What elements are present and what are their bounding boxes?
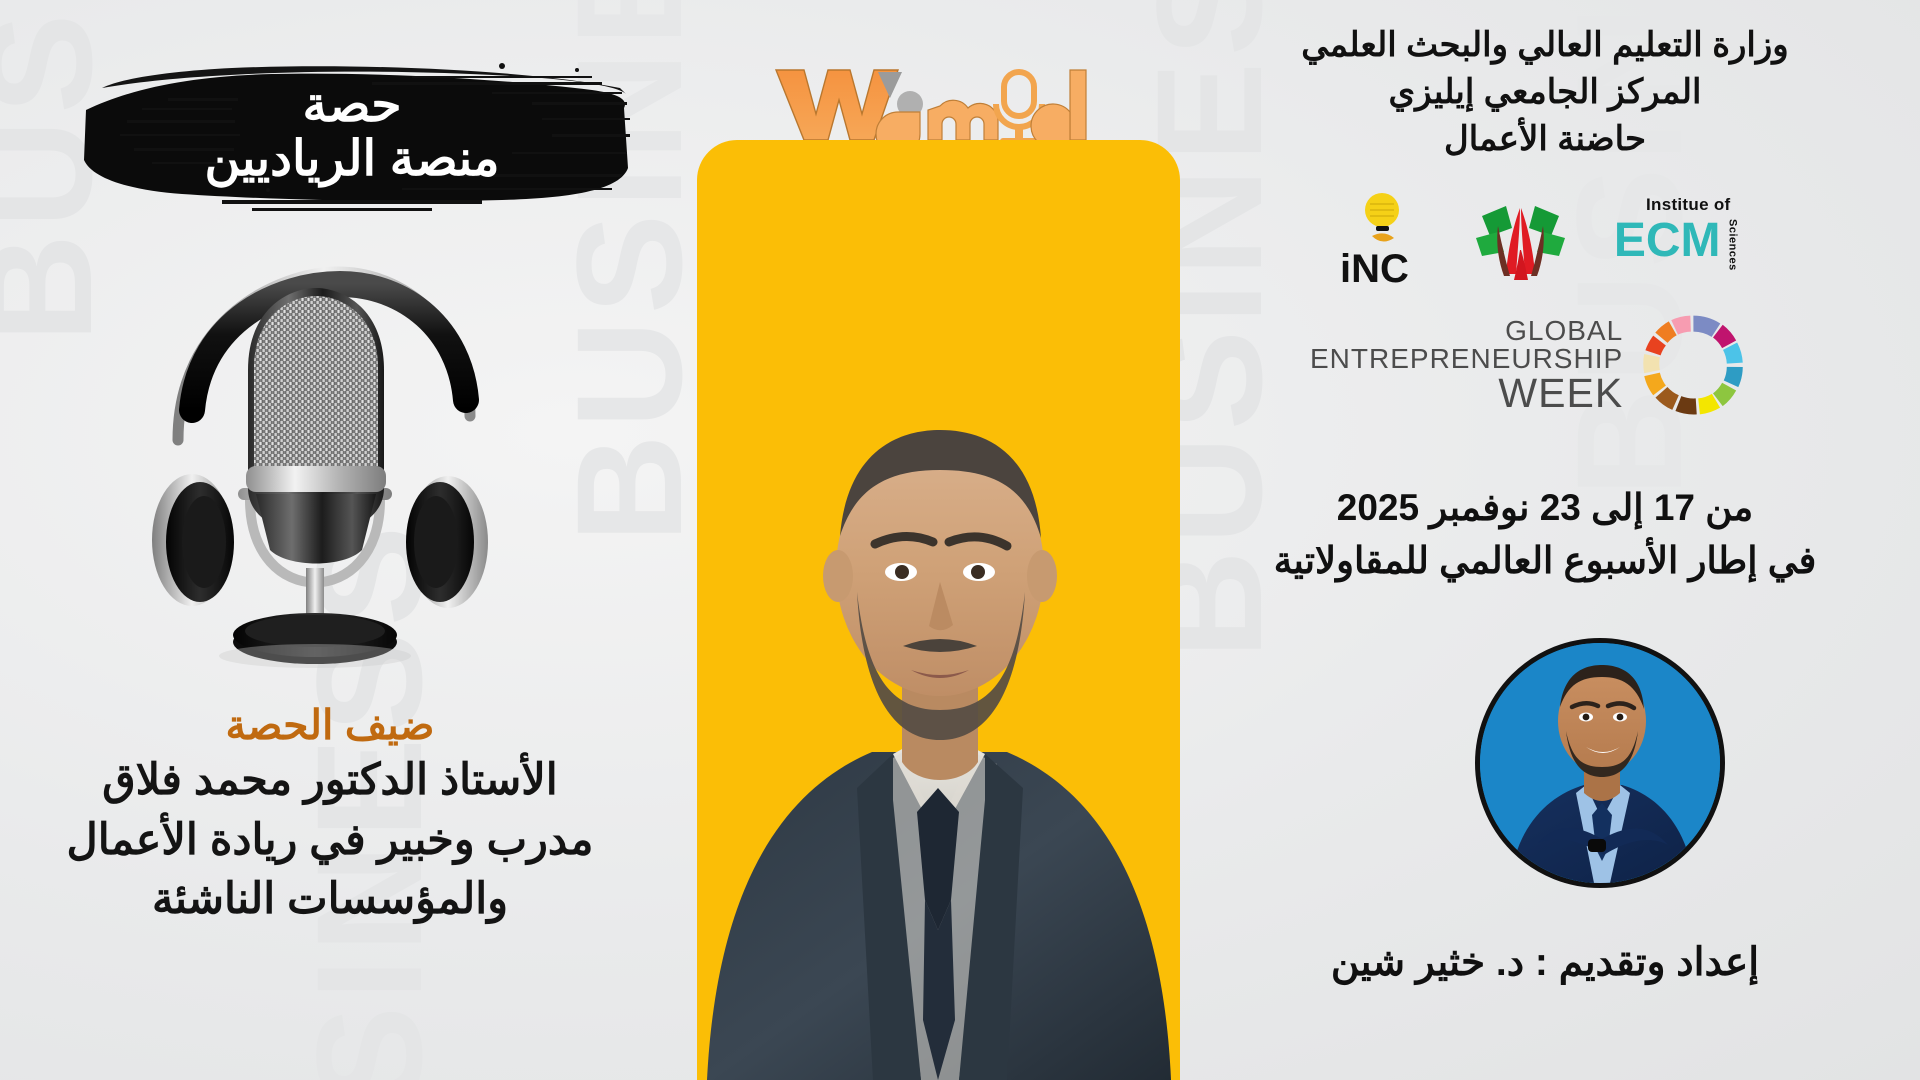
partner-logos: Institue of ECM Sciences: [1310, 185, 1770, 290]
university-emblem-logo: [1468, 190, 1573, 285]
poster-canvas: BUSI BUSINE BUSINES BUSIN SINESS: [0, 0, 1920, 1080]
left-column: حصة منصة الرياديين: [0, 0, 660, 1080]
event-dates-block: من 17 إلى 23 نوفمبر 2025 في إطار الأسبوع…: [1210, 480, 1880, 585]
global-entrepreneurship-week-logo: GLOBAL ENTREPRENEURSHIP WEEK: [1310, 305, 1750, 425]
event-dates: من 17 إلى 23 نوفمبر 2025: [1210, 480, 1880, 536]
inc-logo-text: iNC: [1340, 247, 1409, 285]
guest-photo-card: [697, 140, 1180, 1080]
ministry-line3: حاضنة الأعمال: [1200, 116, 1890, 163]
right-column: وزارة التعليم العالي والبحث العلمي المرك…: [1180, 0, 1920, 1080]
gew-line3: WEEK: [1310, 373, 1623, 414]
gew-line1: GLOBAL: [1310, 317, 1623, 345]
ministry-header: وزارة التعليم العالي والبحث العلمي المرك…: [1200, 22, 1890, 163]
ecm-logo-top-text: Institue of: [1646, 195, 1731, 215]
guest-role-line2: والمؤسسات الناشئة: [0, 870, 660, 929]
guest-name: الأستاذ الدكتور محمد فلاق: [0, 751, 660, 810]
guest-portrait: [697, 140, 1180, 1080]
microphone-headphones-icon: [130, 250, 500, 670]
ecm-logo: Institue of ECM Sciences: [1595, 193, 1745, 283]
ecm-logo-main-text: ECM: [1614, 217, 1721, 265]
presenter-credit: إعداد وتقديم : د. خثير شين: [1210, 940, 1880, 985]
show-title-line2: منصة الرياديين: [204, 134, 499, 185]
guest-info: ضيف الحصة الأستاذ الدكتور محمد فلاق مدرب…: [0, 700, 660, 929]
presenter-avatar: [1475, 638, 1725, 888]
inc-logo: iNC: [1336, 190, 1446, 285]
show-title-line1: حصة: [302, 80, 401, 131]
ministry-line2: المركز الجامعي إيليزي: [1200, 69, 1890, 116]
event-context: في إطار الأسبوع العالمي للمقاولاتية: [1210, 536, 1880, 586]
gew-line2: ENTREPRENEURSHIP: [1310, 345, 1623, 373]
show-title-banner: حصة منصة الرياديين: [72, 48, 632, 223]
guest-label: ضيف الحصة: [0, 700, 660, 751]
ecm-logo-side-text: Sciences: [1727, 219, 1739, 271]
gew-arc-icon: [1637, 306, 1750, 424]
guest-role-line1: مدرب وخبير في ريادة الأعمال: [0, 811, 660, 870]
ministry-line1: وزارة التعليم العالي والبحث العلمي: [1200, 22, 1890, 69]
